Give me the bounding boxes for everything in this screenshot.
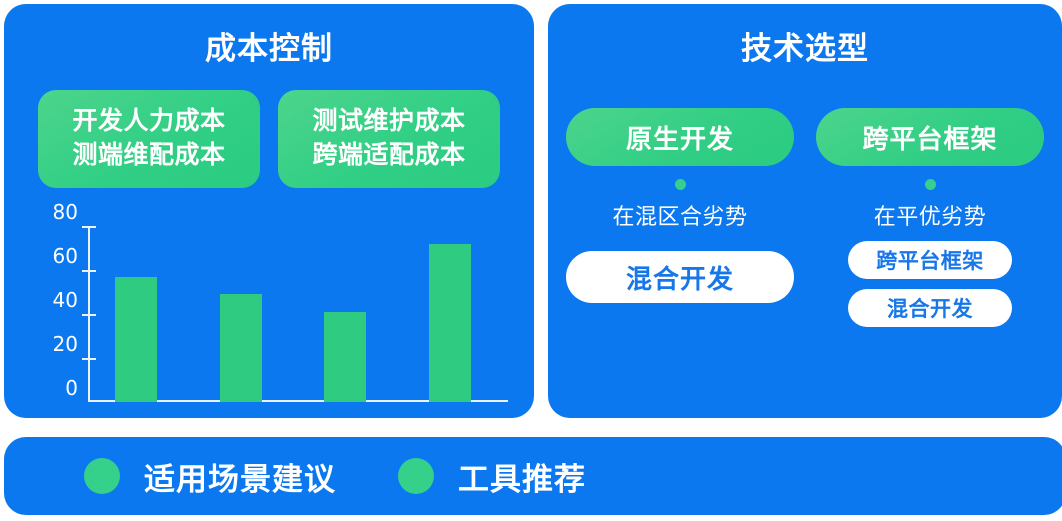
tech-suboption-crossplatform-small-label: 跨平台框架 <box>876 245 984 275</box>
tech-option-crossplatform[interactable]: 跨平台框架 <box>816 108 1044 166</box>
tech-note-crossplatform: 在平优劣势 <box>874 199 987 231</box>
cost-card-2-line1: 测试维护成本 <box>312 105 465 139</box>
tech-column-crossplatform: 跨平台框架 在平优劣势 跨平台框架 混合开发 <box>816 108 1044 327</box>
tech-suboption-hybrid-small-label: 混合开发 <box>887 293 973 323</box>
chart-y-tick-label: 0 <box>65 376 78 400</box>
tech-column-group: 原生开发 在混区合劣势 混合开发 跨平台框架 在平优劣势 跨平台框架 混合开发 <box>566 108 1044 327</box>
tech-column-native: 原生开发 在混区合劣势 混合开发 <box>566 108 794 327</box>
chart-y-tick-label: 60 <box>53 244 78 268</box>
chart-bar <box>220 294 262 402</box>
cost-bar-chart: 020406080 <box>32 212 512 412</box>
cost-card-2[interactable]: 测试维护成本 跨端适配成本 <box>278 90 500 188</box>
cost-panel-title: 成本控制 <box>4 23 534 68</box>
footer-item-tools-label: 工具推荐 <box>458 454 586 499</box>
tech-suboption-hybrid-small[interactable]: 混合开发 <box>848 289 1012 327</box>
cost-card-1-line2: 测端维配成本 <box>72 139 225 173</box>
tech-suboption-hybrid-large-label: 混合开发 <box>626 259 734 296</box>
chart-bar <box>429 244 471 402</box>
tech-suboption-hybrid-large[interactable]: 混合开发 <box>566 251 794 303</box>
cost-card-1-line1: 开发人力成本 <box>72 105 225 139</box>
cost-control-panel: 成本控制 开发人力成本 测端维配成本 测试维护成本 跨端适配成本 0204060… <box>4 4 534 418</box>
tech-option-crossplatform-label: 跨平台框架 <box>862 119 997 156</box>
footer-item-scenario-label: 适用场景建议 <box>144 454 336 499</box>
green-dot-icon <box>398 458 434 494</box>
tech-option-native-label: 原生开发 <box>626 119 734 156</box>
cost-card-1[interactable]: 开发人力成本 测端维配成本 <box>38 90 260 188</box>
footer-item-tools[interactable]: 工具推荐 <box>398 454 586 499</box>
chart-bar <box>324 312 366 402</box>
chart-bar <box>115 277 157 402</box>
chart-bars-area <box>90 226 508 402</box>
tech-selection-panel: 技术选型 原生开发 在混区合劣势 混合开发 跨平台框架 在平优劣势 <box>548 4 1062 418</box>
tech-option-native[interactable]: 原生开发 <box>566 108 794 166</box>
tech-suboption-crossplatform-small[interactable]: 跨平台框架 <box>848 241 1012 279</box>
green-dot-icon <box>675 179 686 190</box>
cost-card-group: 开发人力成本 测端维配成本 测试维护成本 跨端适配成本 <box>38 90 500 188</box>
chart-y-tick-label: 20 <box>53 332 78 356</box>
green-dot-icon <box>84 458 120 494</box>
tech-note-native: 在混区合劣势 <box>612 199 747 231</box>
infographic-root: 成本控制 开发人力成本 测端维配成本 测试维护成本 跨端适配成本 0204060… <box>0 0 1062 521</box>
cost-card-2-line2: 跨端适配成本 <box>312 139 465 173</box>
chart-y-tick-label: 80 <box>53 200 78 224</box>
footer-bar: 适用场景建议 工具推荐 <box>4 437 1062 515</box>
chart-y-tick-label: 40 <box>53 288 78 312</box>
green-dot-icon <box>925 179 936 190</box>
chart-y-axis-labels: 020406080 <box>32 212 78 388</box>
tech-panel-title: 技术选型 <box>548 23 1062 68</box>
footer-item-scenario[interactable]: 适用场景建议 <box>84 454 336 499</box>
